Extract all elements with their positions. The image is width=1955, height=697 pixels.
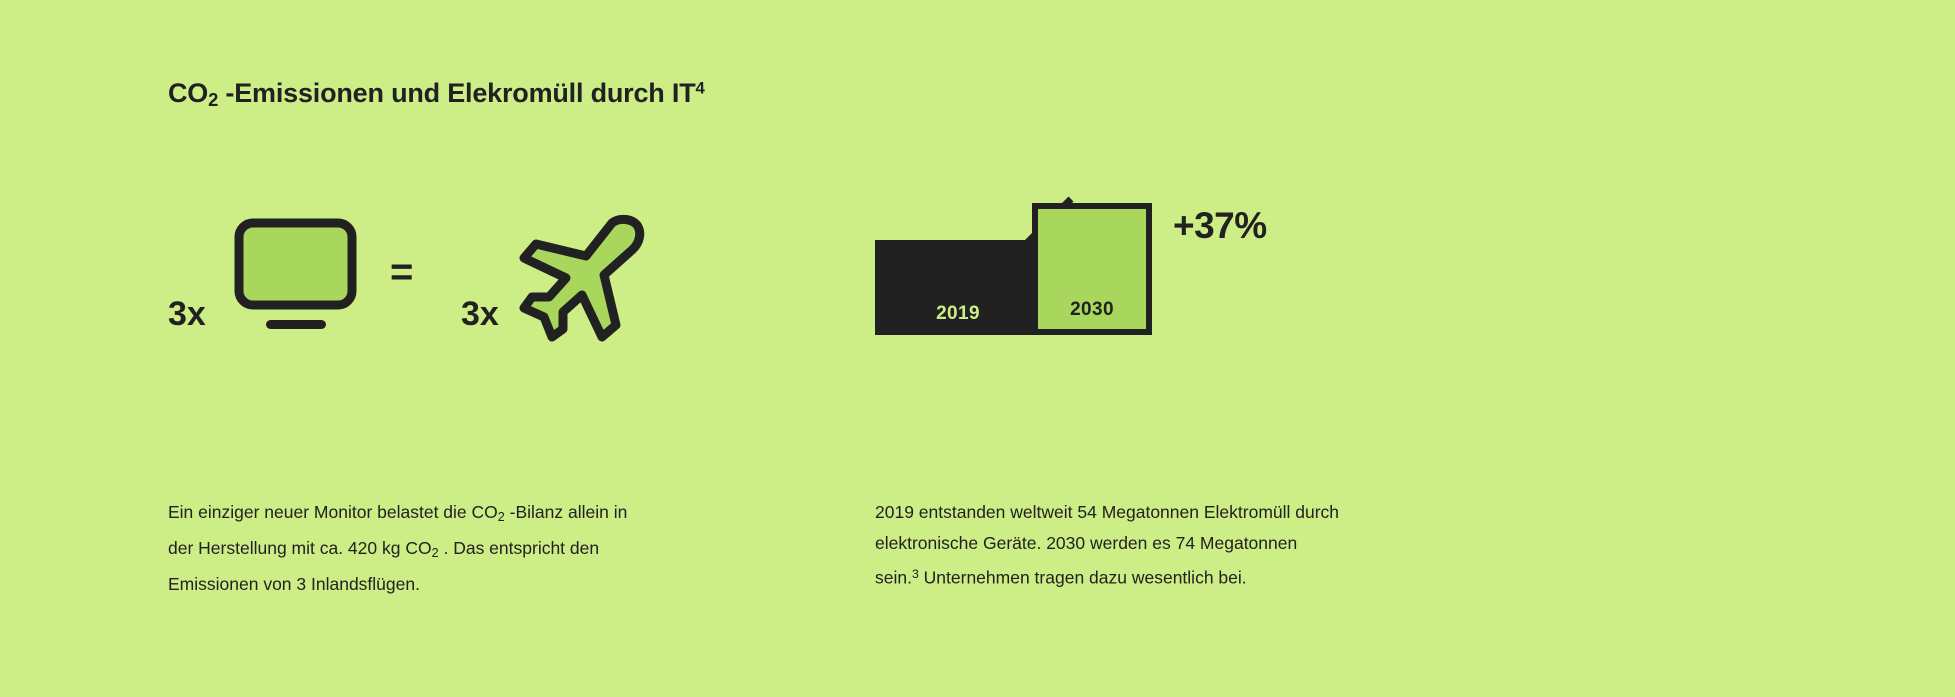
infographic-canvas: CO2 -Emissionen und Elekromüll durch IT4… bbox=[0, 0, 1955, 697]
bar-2019-label: 2019 bbox=[875, 303, 1041, 325]
left-text-line-1: Ein einziger neuer Monitor belastet die … bbox=[168, 497, 728, 533]
left-line2-pre: der Herstellung mit ca. 420 kg CO bbox=[168, 538, 432, 558]
left-line1-post: -Bilanz allein in bbox=[505, 502, 628, 522]
right-text-line-1: 2019 entstanden weltweit 54 Megatonnen E… bbox=[875, 497, 1435, 528]
right-line3-superscript-footnote: 3 bbox=[912, 567, 919, 581]
ewaste-bar-chart: 2019 2030 +37% bbox=[875, 195, 1435, 355]
bar-2030-label: 2030 bbox=[1038, 299, 1146, 321]
left-line2-subscript: 2 bbox=[432, 546, 439, 560]
equals-sign: = bbox=[390, 250, 413, 295]
left-description-text: Ein einziger neuer Monitor belastet die … bbox=[168, 497, 728, 600]
page-title: CO2 -Emissionen und Elekromüll durch IT4 bbox=[168, 78, 705, 111]
right-description-text: 2019 entstanden weltweit 54 Megatonnen E… bbox=[875, 497, 1435, 594]
left-text-line-3: Emissionen von 3 Inlandsflügen. bbox=[168, 569, 728, 600]
growth-percentage-label: +37% bbox=[1173, 205, 1267, 247]
title-subscript: 2 bbox=[208, 89, 218, 110]
airplane-icon bbox=[516, 213, 646, 343]
bar-2019: 2019 bbox=[875, 240, 1041, 335]
monitor-icon bbox=[233, 215, 358, 340]
right-line3-pre: sein. bbox=[875, 568, 912, 588]
left-line1-subscript: 2 bbox=[498, 510, 505, 524]
plane-multiplier-label: 3x bbox=[461, 295, 499, 334]
title-prefix: CO bbox=[168, 78, 208, 108]
monitor-multiplier-label: 3x bbox=[168, 295, 206, 334]
right-text-line-2: elektronische Geräte. 2030 werden es 74 … bbox=[875, 528, 1435, 559]
title-main: -Emissionen und Elekromüll durch IT bbox=[218, 78, 695, 108]
bar-2030: 2030 bbox=[1032, 203, 1152, 335]
left-text-line-2: der Herstellung mit ca. 420 kg CO2 . Das… bbox=[168, 533, 728, 569]
left-line2-post: . Das entspricht den bbox=[439, 538, 600, 558]
right-line3-post: Unternehmen tragen dazu wesentlich bei. bbox=[919, 568, 1247, 588]
monitor-equals-plane-illustration: 3x = 3x bbox=[168, 195, 708, 355]
title-superscript-footnote: 4 bbox=[696, 78, 705, 97]
left-line1-pre: Ein einziger neuer Monitor belastet die … bbox=[168, 502, 498, 522]
right-text-line-3: sein.3 Unternehmen tragen dazu wesentlic… bbox=[875, 559, 1435, 594]
